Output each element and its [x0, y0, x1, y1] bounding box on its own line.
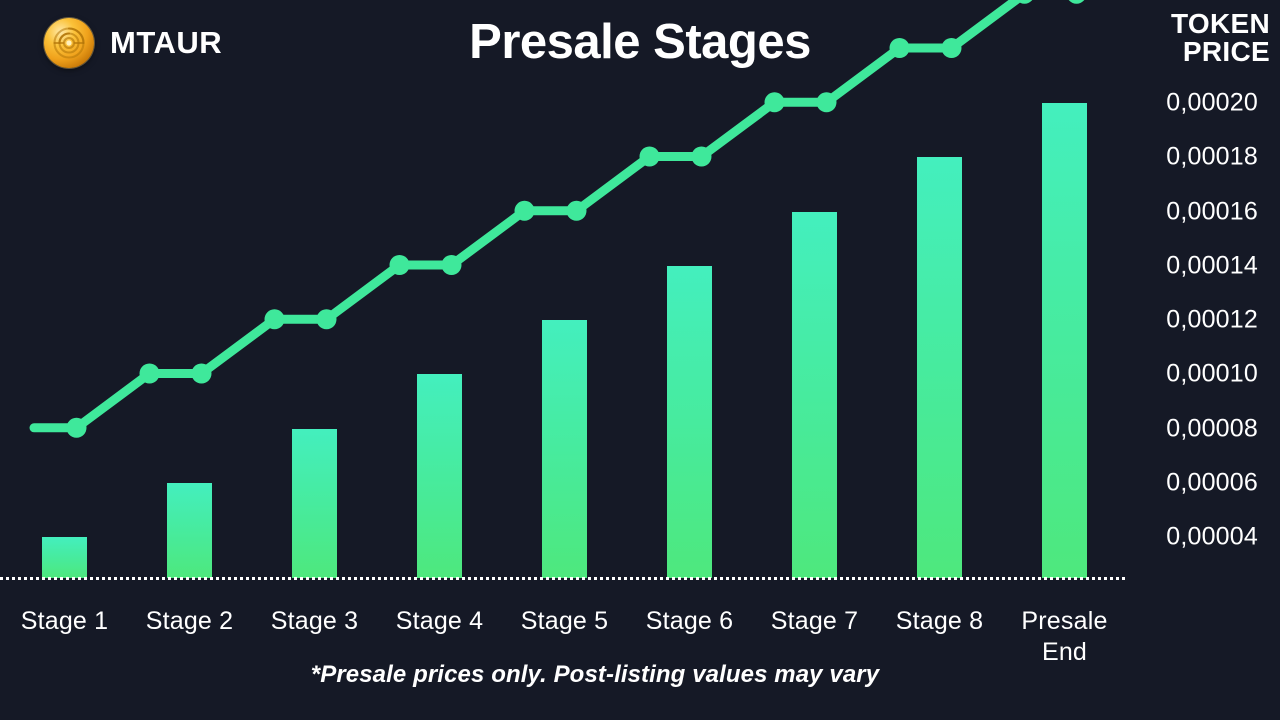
trend-line-overlay	[0, 0, 1125, 590]
y-axis-tick: 0,00008	[1166, 414, 1258, 443]
trend-line-marker	[817, 92, 837, 112]
x-axis-labels: Stage 1Stage 2Stage 3Stage 4Stage 5Stage…	[0, 592, 1125, 662]
x-axis-label: Stage 8	[867, 606, 1012, 637]
y-axis-tick: 0,00020	[1166, 89, 1258, 118]
x-axis-label: Stage 5	[492, 606, 637, 637]
trend-line-marker	[317, 309, 337, 329]
trend-line-marker	[1067, 0, 1087, 4]
footnote: *Presale prices only. Post-listing value…	[0, 661, 1190, 689]
trend-line-marker	[890, 38, 910, 58]
x-axis-label: Stage 3	[242, 606, 387, 637]
x-axis-label: Stage 6	[617, 606, 762, 637]
trend-line-marker	[67, 418, 87, 438]
trend-line-marker	[692, 147, 712, 167]
trend-line-path	[34, 0, 1077, 428]
trend-line-marker	[390, 255, 410, 275]
trend-line-marker	[942, 38, 962, 58]
trend-line-marker	[515, 201, 535, 221]
y-axis-tick: 0,00014	[1166, 251, 1258, 280]
presale-stages-infographic: MTAUR Presale Stages TOKEN PRICE 0,00020…	[0, 0, 1280, 720]
y-axis-tick-list: 0,000200,000180,000160,000140,000120,000…	[1120, 0, 1280, 590]
y-axis-tick: 0,00004	[1166, 523, 1258, 552]
y-axis-tick: 0,00016	[1166, 197, 1258, 226]
trend-line-marker	[265, 309, 285, 329]
y-axis-tick: 0,00018	[1166, 143, 1258, 172]
trend-line-marker	[192, 364, 212, 384]
y-axis: TOKEN PRICE 0,000200,000180,000160,00014…	[1120, 0, 1280, 590]
y-axis-tick: 0,00012	[1166, 306, 1258, 335]
x-axis-label: Stage 7	[742, 606, 887, 637]
y-axis-tick: 0,00006	[1166, 468, 1258, 497]
y-axis-tick: 0,00010	[1166, 360, 1258, 389]
trend-line-marker	[567, 201, 587, 221]
trend-line-marker	[640, 147, 660, 167]
trend-line-marker	[140, 364, 160, 384]
trend-line-marker	[765, 92, 785, 112]
plot-area: Stage 1Stage 2Stage 3Stage 4Stage 5Stage…	[0, 0, 1125, 590]
x-axis-label: Stage 2	[117, 606, 262, 637]
x-axis-label: Presale End	[992, 606, 1137, 669]
x-axis-label: Stage 4	[367, 606, 512, 637]
trend-line-marker	[442, 255, 462, 275]
